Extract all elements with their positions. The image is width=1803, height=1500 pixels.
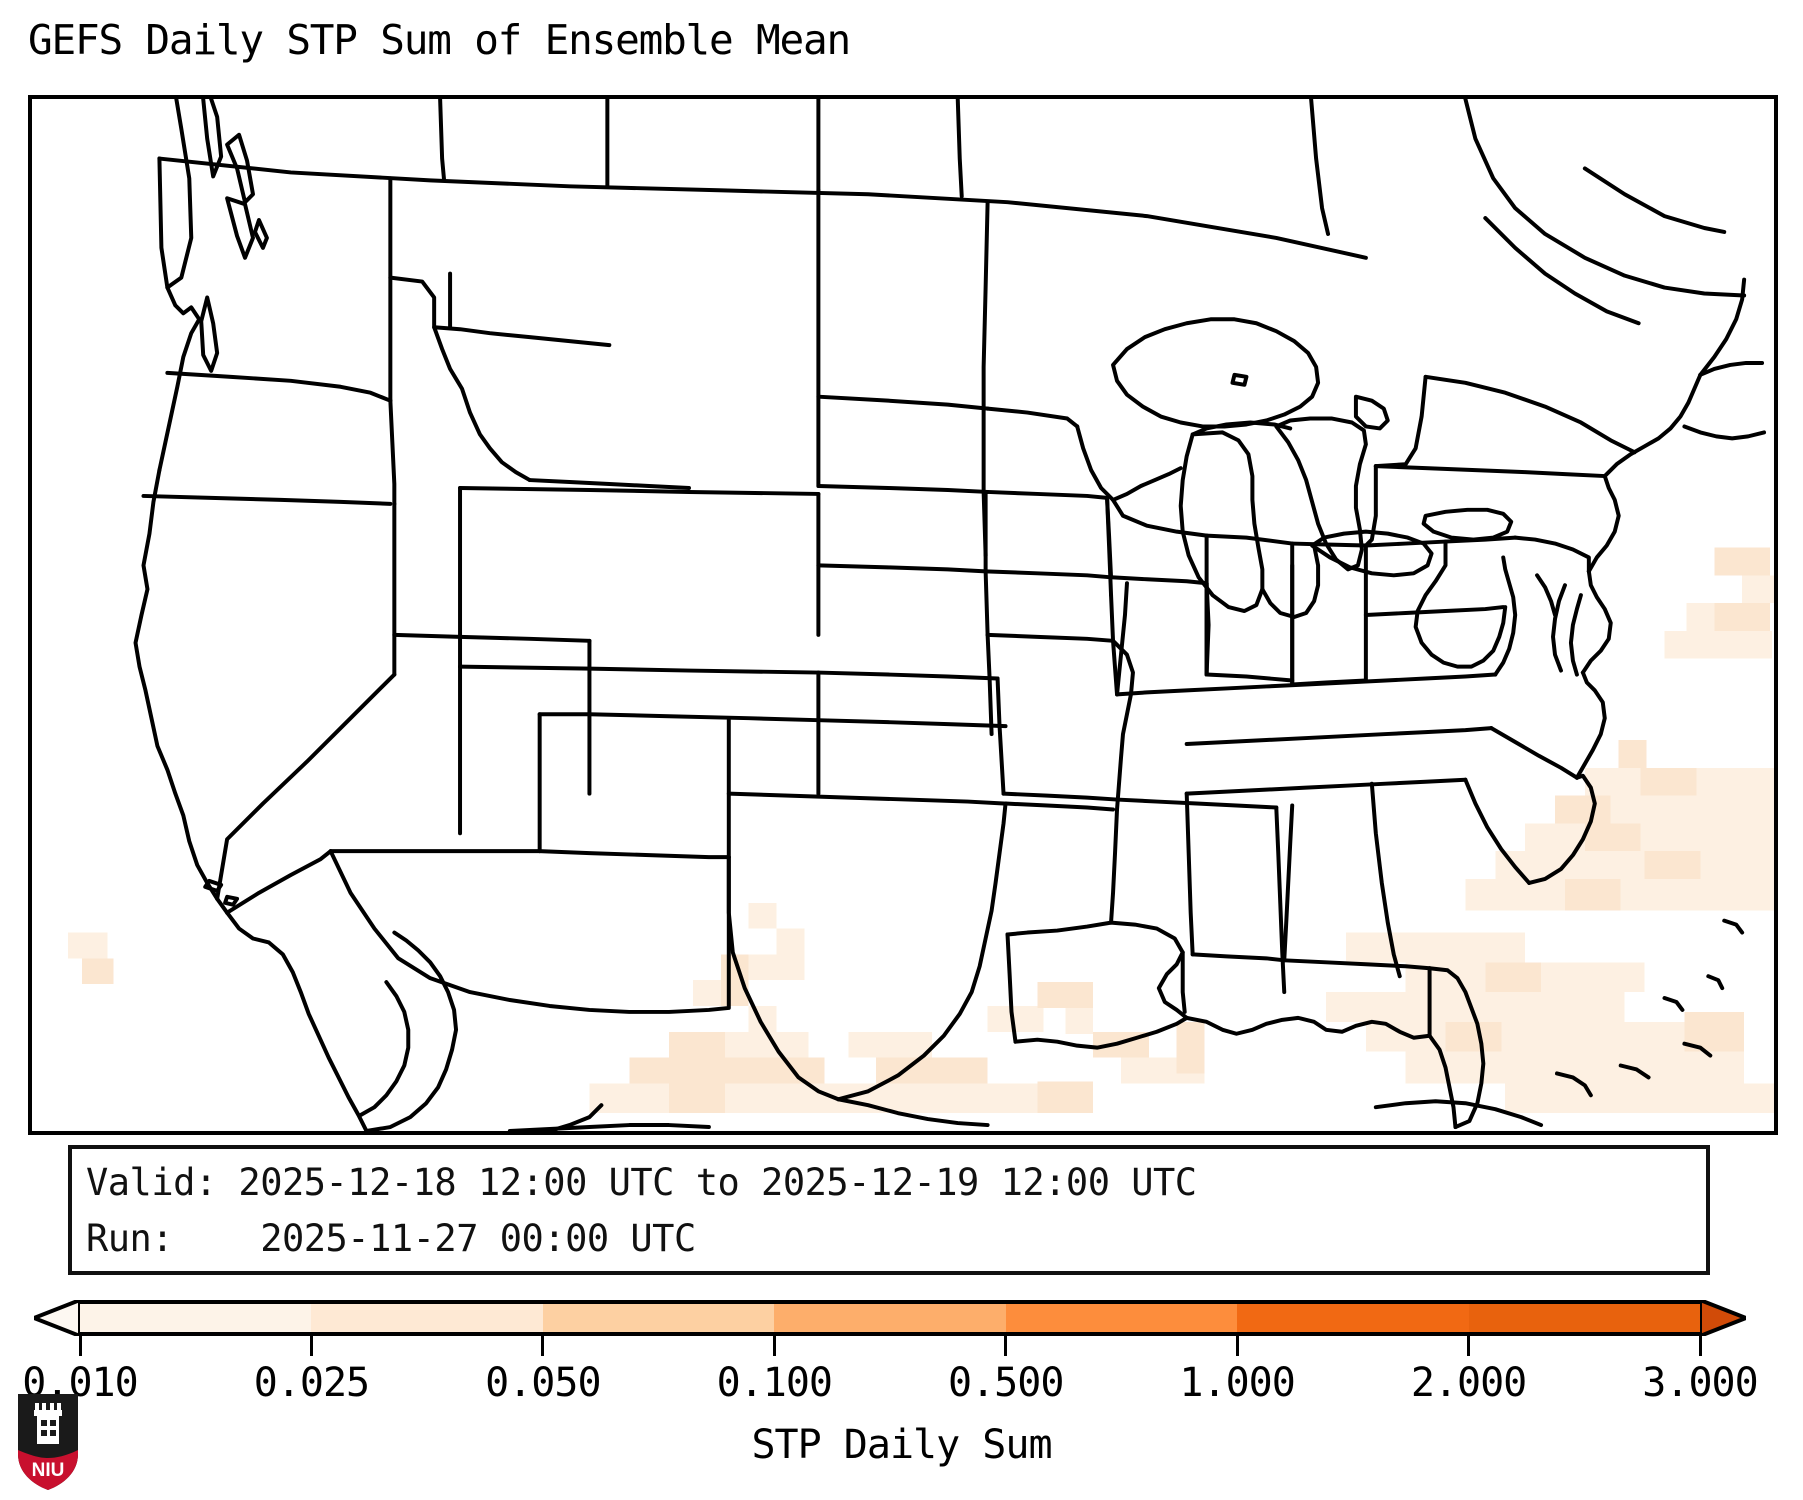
colorbar-band-1 (311, 1304, 542, 1332)
colorbar-tick-label-5: 1.000 (1179, 1360, 1294, 1406)
colorbar-band-5 (1237, 1304, 1468, 1332)
map-panel[interactable] (28, 95, 1778, 1135)
colorbar-band-3 (774, 1304, 1005, 1332)
colorbar-tick-3 (773, 1336, 776, 1356)
colorbar-tick-label-7: 3.000 (1642, 1360, 1757, 1406)
colorbar-extend-low-arrow (34, 1300, 80, 1336)
colorbar-tick-label-4: 0.500 (948, 1360, 1063, 1406)
colorbar-tick-6 (1467, 1336, 1470, 1356)
colorbar-tick-7 (1699, 1336, 1702, 1356)
niu-logo-text: NIU (32, 1460, 65, 1481)
colorbar-band-6 (1469, 1304, 1700, 1332)
valid-time-line: Valid: 2025-12-18 12:00 UTC to 2025-12-1… (86, 1155, 1692, 1211)
forecast-info-box: Valid: 2025-12-18 12:00 UTC to 2025-12-1… (68, 1145, 1710, 1275)
colorbar-tick-0 (79, 1336, 82, 1356)
niu-logo: NIU (14, 1392, 82, 1492)
colorbar-tick-1 (310, 1336, 313, 1356)
colorbar-tick-label-3: 0.100 (717, 1360, 832, 1406)
colorbar-tick-label-1: 0.025 (254, 1360, 369, 1406)
colorbar-tick-4 (1004, 1336, 1007, 1356)
colorbar-tick-2 (541, 1336, 544, 1356)
colorbar-band-2 (543, 1304, 774, 1332)
colorbar-band-4 (1006, 1304, 1237, 1332)
colorbar-tick-label-2: 0.050 (485, 1360, 600, 1406)
colorbar[interactable]: 0.0100.0250.0500.1000.5001.0002.0003.000… (0, 1300, 1803, 1500)
colorbar-tick-label-6: 2.000 (1411, 1360, 1526, 1406)
colorbar-axis-label: STP Daily Sum (0, 1422, 1803, 1468)
colorbar-gradient[interactable] (80, 1300, 1700, 1336)
colorbar-band-0 (80, 1304, 311, 1332)
page-title: GEFS Daily STP Sum of Ensemble Mean (28, 16, 850, 64)
colorbar-extend-high-arrow (1700, 1300, 1746, 1336)
colorbar-tick-5 (1236, 1336, 1239, 1356)
run-time-line: Run: 2025-11-27 00:00 UTC (86, 1211, 1692, 1267)
map-geography (32, 99, 1774, 1131)
